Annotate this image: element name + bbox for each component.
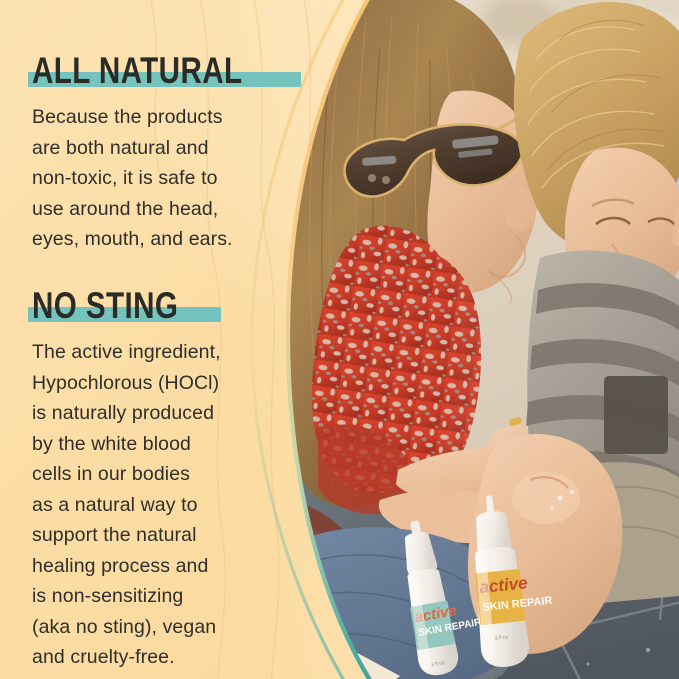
section-no-sting: NO STING The active ingredient, Hypochlo… <box>32 287 284 673</box>
spray-name: SKIN REPAIR <box>418 617 483 639</box>
gel-size: 3 fl oz <box>495 634 509 641</box>
product-spray-bottle: active SKIN REPAIR 3 fl oz <box>394 512 490 678</box>
ring <box>508 416 522 426</box>
all-natural-heading: ALL NATURAL <box>32 52 242 90</box>
shirt-pocket <box>604 376 668 454</box>
no-sting-heading: NO STING <box>32 287 178 325</box>
gel-label <box>475 569 525 625</box>
promo-graphic: active SKIN REPAIR 3 fl oz active SKIN R… <box>0 0 679 679</box>
copy-column: ALL NATURAL Because the products are bot… <box>0 0 300 679</box>
sunglasses <box>345 96 538 197</box>
section-all-natural: ALL NATURAL Because the products are bot… <box>32 52 284 255</box>
gel-name: SKIN REPAIR <box>482 595 553 614</box>
gel-brand: active <box>479 573 529 597</box>
product-gel-bottle: active SKIN REPAIR 3 fl oz <box>465 490 559 669</box>
boy <box>468 2 679 654</box>
scrape <box>530 477 568 488</box>
no-sting-body: The active ingredient, Hypochlorous (HOC… <box>32 337 284 673</box>
woman <box>285 0 631 679</box>
no-sting-heading-wrap: NO STING <box>32 287 215 325</box>
second-hand <box>578 415 631 462</box>
spray-brand: active <box>413 602 458 626</box>
all-natural-heading-wrap: ALL NATURAL <box>32 52 295 90</box>
hand-on-knee <box>484 416 586 498</box>
photo-edge-arc <box>288 0 376 679</box>
all-natural-body: Because the products are both natural an… <box>32 102 284 255</box>
photo-content: active SKIN REPAIR 3 fl oz active SKIN R… <box>268 0 679 679</box>
spray-size: 3 fl oz <box>431 660 446 668</box>
spray-label <box>410 600 455 650</box>
